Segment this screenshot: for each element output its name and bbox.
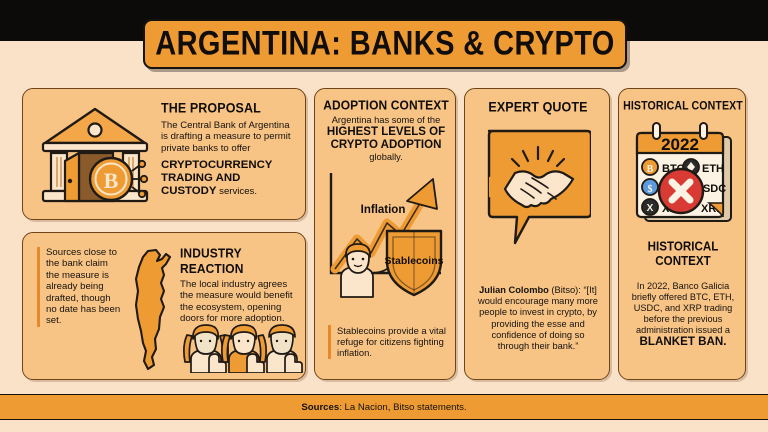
svg-text:X: X bbox=[647, 203, 654, 214]
page-title-banner: ARGENTINA: BANKS & CRYPTO bbox=[143, 19, 627, 69]
historical-heading-2: HISTORICAL CONTEXT bbox=[619, 240, 747, 269]
panel-industry-reaction: Sources close to the bank claim the meas… bbox=[22, 232, 306, 380]
historical-body-block: In 2022, Banco Galicia briefly offered B… bbox=[627, 281, 739, 348]
industry-side-note-block: Sources close to the bank claim the meas… bbox=[37, 247, 123, 327]
proposal-heading: THE PROPOSAL bbox=[161, 100, 297, 115]
historical-emphasis: BLANKET BAN. bbox=[640, 335, 727, 348]
panel-historical-context: HISTORICAL CONTEXT 2022 B BTC ET bbox=[618, 88, 746, 380]
quote-text-block: Julian Colombo (Bitso): “[It] would enco… bbox=[475, 285, 601, 352]
thumbs-up-people-icon bbox=[183, 323, 305, 373]
quote-heading: EXPERT QUOTE bbox=[465, 99, 611, 114]
shield-stablecoins-label: Stablecoins bbox=[385, 255, 444, 267]
argentina-map-icon bbox=[126, 247, 178, 373]
svg-text:B: B bbox=[647, 164, 654, 175]
quote-affiliation: (Bitso): bbox=[549, 285, 581, 295]
historical-body: In 2022, Banco Galicia briefly offered B… bbox=[632, 281, 734, 335]
adoption-footnote: Stablecoins provide a vital refuge for c… bbox=[328, 325, 446, 359]
sources-value: : La Nacion, Bitso statements. bbox=[339, 402, 466, 413]
svg-text:$: $ bbox=[648, 184, 653, 195]
industry-side-note: Sources close to the bank claim the meas… bbox=[46, 247, 123, 327]
proposal-tail: services. bbox=[217, 186, 258, 197]
adoption-lead: Argentina has some of the bbox=[322, 115, 450, 126]
sources-label: Sources bbox=[301, 402, 339, 413]
proposal-text-block: THE PROPOSAL The Central Bank of Argenti… bbox=[161, 101, 297, 198]
historical-heading: HISTORICAL CONTEXT bbox=[619, 99, 747, 112]
adoption-heading: ADOPTION CONTEXT bbox=[322, 97, 450, 112]
svg-text:ETH: ETH bbox=[702, 163, 724, 175]
adoption-tail: globally. bbox=[322, 152, 450, 163]
industry-body: The local industry agrees the measure wo… bbox=[180, 279, 300, 325]
sources-bar: Sources: La Nacion, Bitso statements. bbox=[0, 394, 768, 420]
proposal-body: The Central Bank of Argentina is draftin… bbox=[161, 120, 297, 154]
calendar-blocked-icon: 2022 B BTC ETH $ USDC X XRP XRP bbox=[631, 121, 735, 227]
calendar-year-label: 2022 bbox=[661, 135, 699, 154]
adoption-emphasis: HIGHEST LEVELS OF CRYPTO ADOPTION bbox=[322, 126, 450, 151]
bank-bitcoin-icon: B bbox=[39, 103, 151, 209]
panel-the-proposal: B THE PROPOSAL The Central Bank of Argen… bbox=[22, 88, 306, 220]
quote-attribution: Julian Colombo bbox=[479, 285, 549, 295]
panel-expert-quote: EXPERT QUOTE bbox=[464, 88, 610, 380]
industry-heading: INDUSTRY REACTION bbox=[180, 246, 300, 277]
sources-text-block: Sources: La Nacion, Bitso statements. bbox=[301, 402, 466, 413]
adoption-text-block: ADOPTION CONTEXT Argentina has some of t… bbox=[322, 98, 450, 163]
inflation-arrow-chart-icon: Inflation Stablecoins bbox=[321, 169, 451, 299]
handshake-icon bbox=[485, 127, 591, 245]
infographic-canvas: ARGENTINA: BANKS & CRYPTO bbox=[0, 0, 768, 432]
bottom-fill bbox=[0, 420, 768, 432]
svg-text:B: B bbox=[104, 168, 119, 193]
industry-text-block: INDUSTRY REACTION The local industry agr… bbox=[180, 247, 300, 325]
chart-inflation-label: Inflation bbox=[361, 204, 406, 216]
panel-adoption-context: ADOPTION CONTEXT Argentina has some of t… bbox=[314, 88, 456, 380]
page-title: ARGENTINA: BANKS & CRYPTO bbox=[155, 25, 615, 64]
